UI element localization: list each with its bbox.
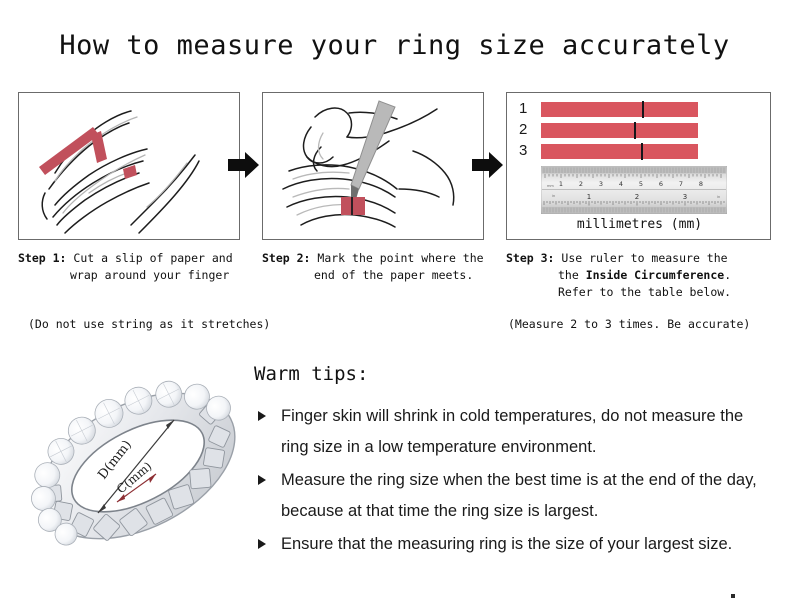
strip-bar <box>541 144 698 159</box>
strip-row: 2 <box>515 123 765 140</box>
tip-text: Ensure that the measuring ring is the si… <box>281 535 732 553</box>
page-title: How to measure your ring size accurately <box>0 30 789 61</box>
arrow-right-icon-1 <box>228 150 260 180</box>
svg-text:mm: mm <box>547 184 554 188</box>
svg-text:3: 3 <box>599 180 603 188</box>
tip-text: Measure the ring size when the best time… <box>281 471 757 520</box>
svg-text:3: 3 <box>683 193 687 201</box>
hand-with-paper-slip-illustration <box>19 93 239 239</box>
step-note-1: (Do not use string as it stretches) <box>28 317 270 331</box>
svg-text:7: 7 <box>679 180 683 188</box>
tip-item: Finger skin will shrink in cold temperat… <box>254 401 774 463</box>
step-text-line1: Use ruler to measure the <box>561 251 727 265</box>
step-caption-2: Step 2: Mark the point where the end of … <box>262 250 494 284</box>
step-caption-1: Step 1: Cut a slip of paper and wrap aro… <box>18 250 250 284</box>
svg-text:2: 2 <box>579 180 583 188</box>
ruler-illustration: 123 456 78 mm 123 in in <box>541 166 727 214</box>
svg-text:in: in <box>552 194 555 198</box>
step-label: Step 2: <box>262 251 310 265</box>
svg-text:6: 6 <box>659 180 663 188</box>
triangle-bullet-icon <box>258 411 266 421</box>
paper-slip-red <box>39 127 137 179</box>
strip-bar <box>541 123 698 138</box>
ring-diagram-illustration: D(mm) C(mm) <box>24 358 252 570</box>
strip-number: 3 <box>519 142 527 159</box>
step-text-line1: Cut a slip of paper and <box>73 251 232 265</box>
step-text-line2: end of the paper meets. <box>314 268 473 282</box>
ruler-unit-caption: millimetres (mm) <box>507 217 771 232</box>
svg-text:4: 4 <box>619 180 623 188</box>
arrow-right-icon-2 <box>472 150 504 180</box>
warm-tips-section: Warm tips: Finger skin will shrink in co… <box>254 363 774 562</box>
step-panel-mark-point <box>262 92 484 240</box>
step-text-line2-post: . <box>724 268 731 282</box>
hand-marking-paper-illustration <box>263 93 483 239</box>
step-panel-cut-paper <box>18 92 240 240</box>
strip-number: 1 <box>519 100 527 117</box>
steps-row: 1 2 3 <box>0 92 789 242</box>
step-text-line3: Refer to the table below. <box>558 285 731 299</box>
svg-text:8: 8 <box>699 180 703 188</box>
step-text-line2-pre: the <box>558 268 586 282</box>
svg-text:1: 1 <box>587 193 591 201</box>
corner-artifact <box>731 594 735 598</box>
strip-bar <box>541 102 698 117</box>
svg-text:5: 5 <box>639 180 643 188</box>
measured-strips-group: 1 2 3 <box>515 102 765 162</box>
step-note-3: (Measure 2 to 3 times. Be accurate) <box>508 317 750 331</box>
step-panel-measure-ruler: 1 2 3 <box>506 92 771 240</box>
step-label: Step 1: <box>18 251 66 265</box>
svg-text:2: 2 <box>635 193 639 201</box>
strip-mark <box>642 101 644 118</box>
strip-number: 2 <box>519 121 527 138</box>
strip-row: 3 <box>515 144 765 161</box>
paper-band-red <box>341 197 365 215</box>
triangle-bullet-icon <box>258 475 266 485</box>
step-label: Step 3: <box>506 251 554 265</box>
warm-tips-heading: Warm tips: <box>254 363 774 385</box>
step-text-line2: wrap around your finger <box>70 268 229 282</box>
inside-circumference-emphasis: Inside Circumference <box>586 268 724 282</box>
tip-item: Ensure that the measuring ring is the si… <box>254 529 774 560</box>
strip-mark <box>634 122 636 139</box>
step-text-line1: Mark the point where the <box>317 251 483 265</box>
strip-mark <box>641 143 643 160</box>
strip-row: 1 <box>515 102 765 119</box>
svg-text:1: 1 <box>559 180 563 188</box>
pen-icon <box>351 101 395 203</box>
triangle-bullet-icon <box>258 539 266 549</box>
svg-text:in: in <box>717 195 720 199</box>
step-caption-3: Step 3: Use ruler to measure the the Ins… <box>506 250 778 301</box>
tip-text: Finger skin will shrink in cold temperat… <box>281 407 743 456</box>
tip-item: Measure the ring size when the best time… <box>254 465 774 527</box>
